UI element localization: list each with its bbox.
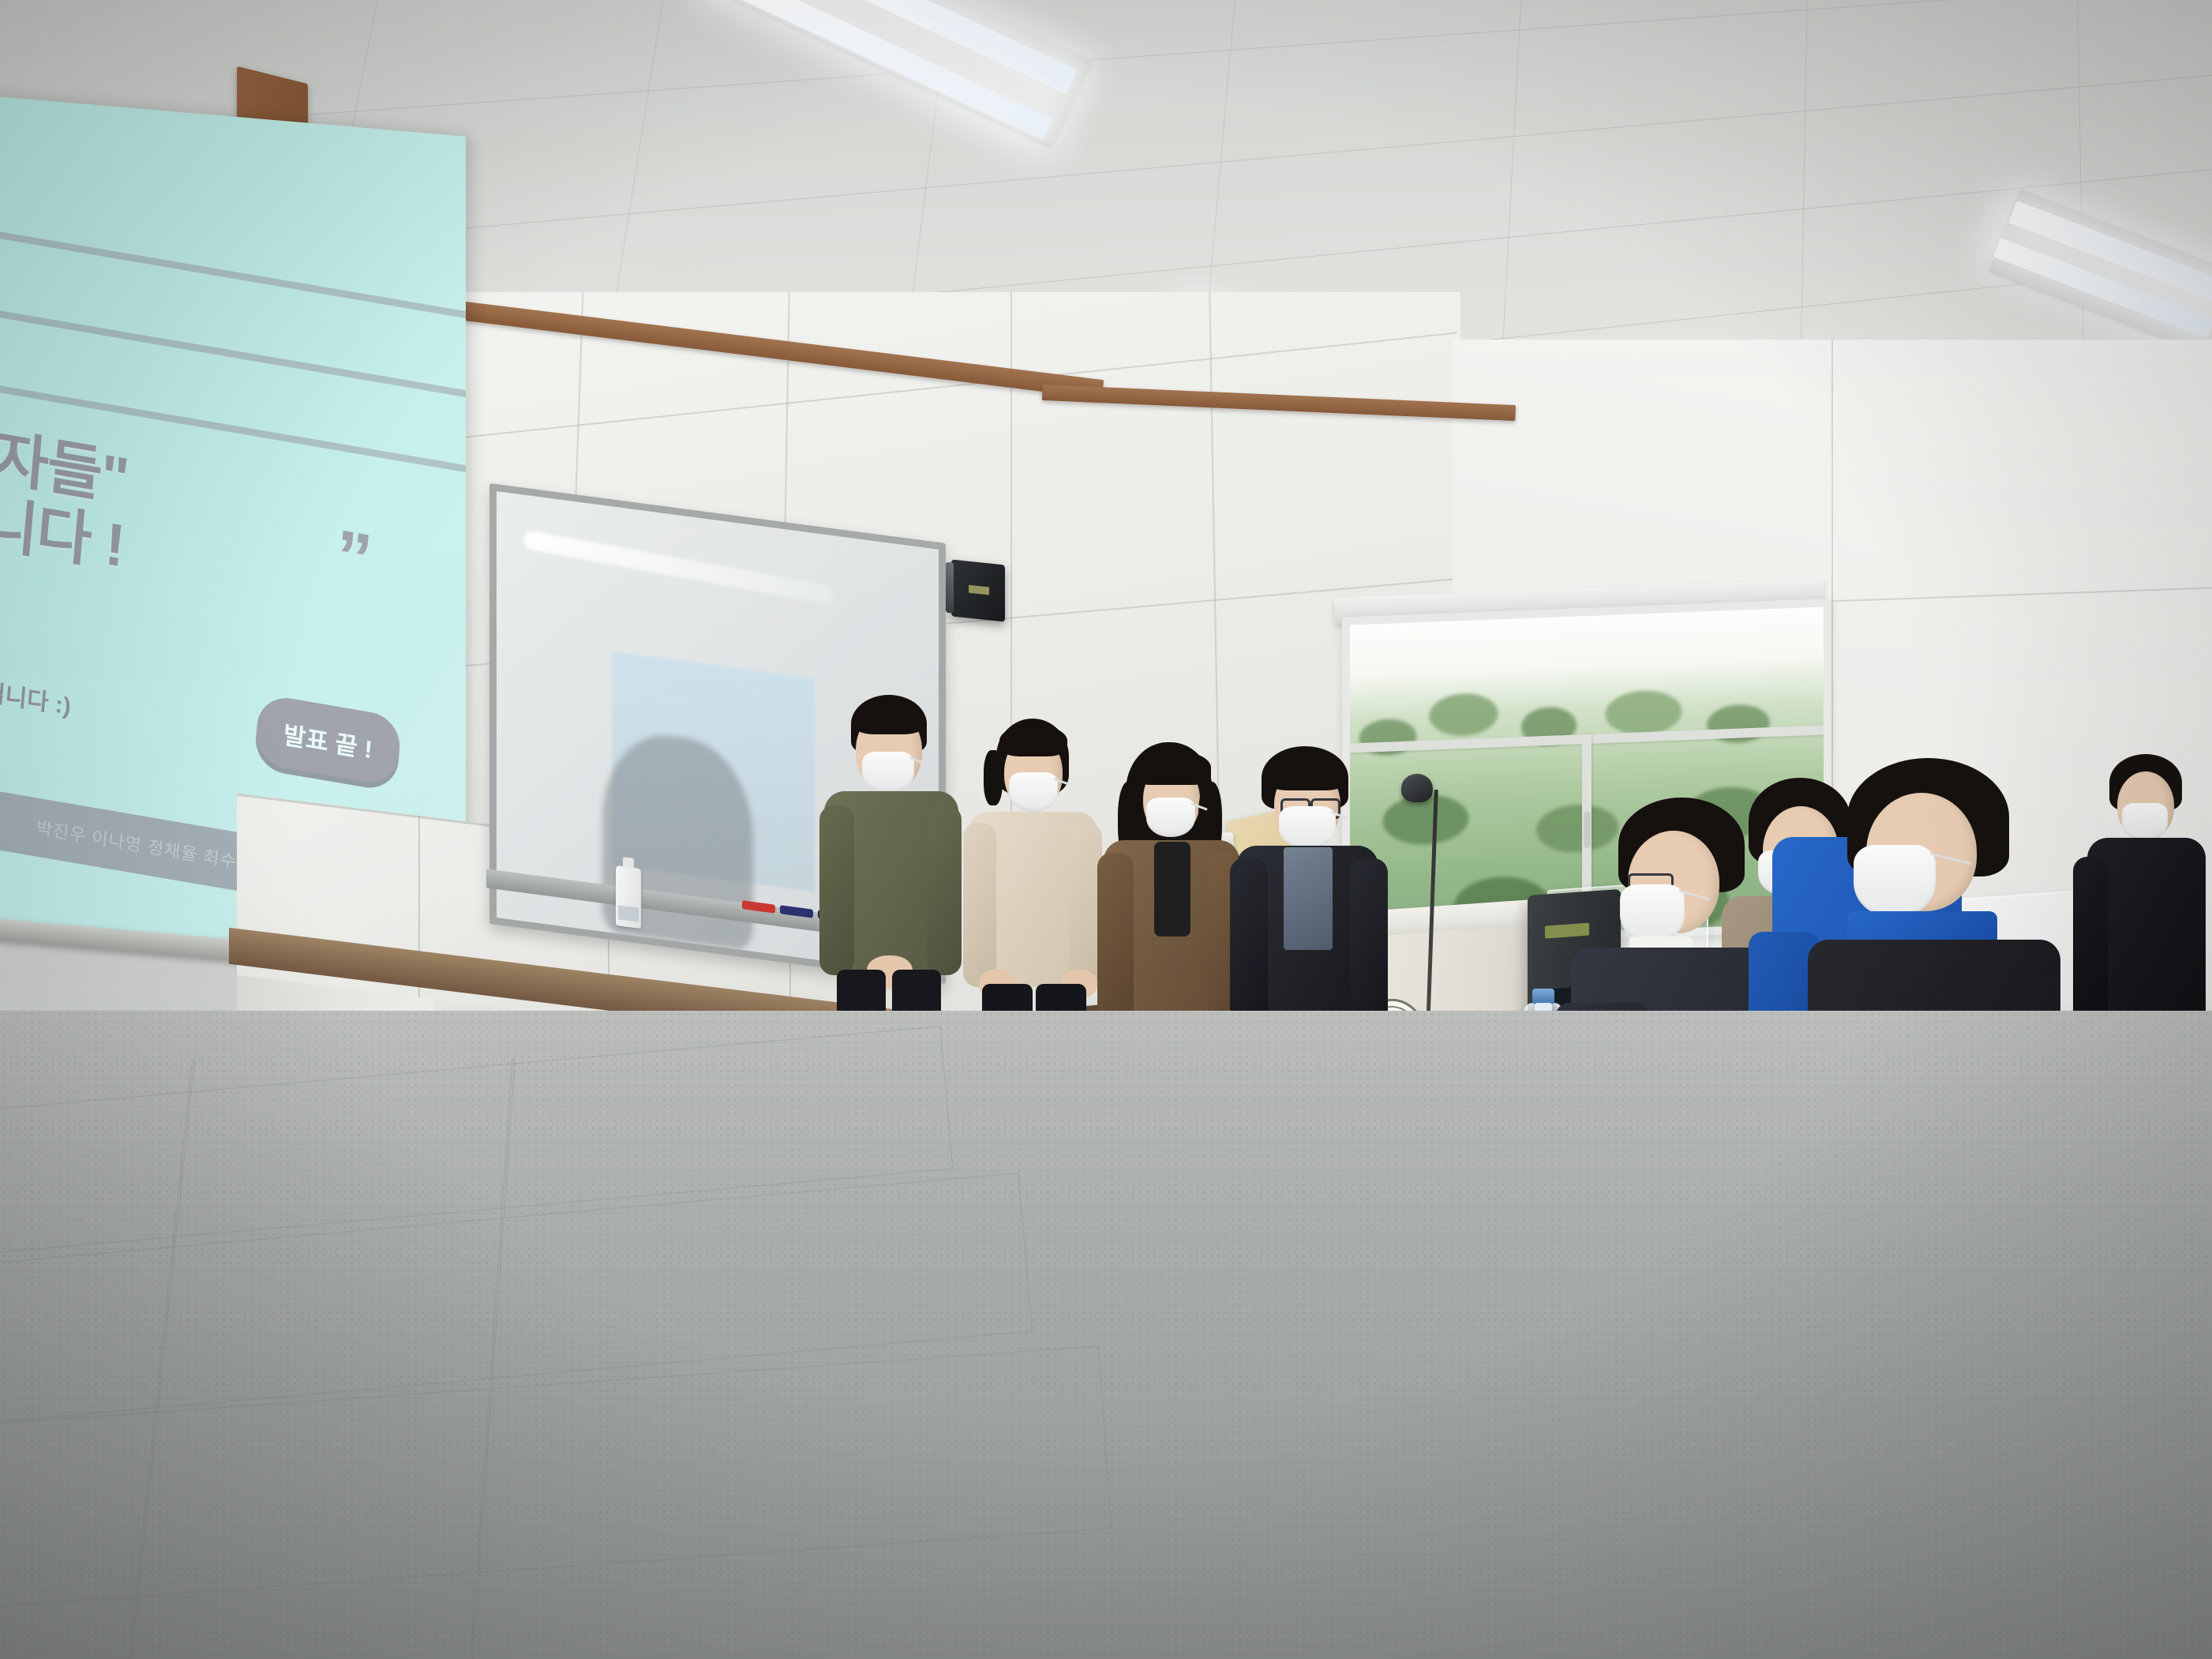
face-mask-icon <box>2122 803 2168 841</box>
classroom-presentation-photo: "비파괴자들" 발표였습니다 ! ” …제나 환영입니다 :) 발표 끝 ! 박… <box>0 0 2212 1659</box>
face-mask-icon <box>1279 806 1336 849</box>
face-mask-icon <box>1854 845 1936 918</box>
wall-speaker-icon <box>951 559 1005 621</box>
face-mask-icon <box>1146 798 1195 837</box>
window-latch[interactable] <box>1584 812 1591 848</box>
presenter-4-shirt <box>1284 847 1333 950</box>
floor <box>0 1011 2212 1659</box>
microphone-icon[interactable] <box>1401 774 1433 802</box>
face-mask-icon <box>1620 884 1685 943</box>
slide-end-button: 발표 끝 ! <box>254 693 403 787</box>
face-mask-icon <box>862 752 914 793</box>
slide-quote-mark: ” <box>332 519 375 597</box>
slide-footer-names: 박진우 이나영 정채율 최수빈 <box>36 814 255 876</box>
face-mask-icon <box>1009 772 1058 812</box>
hand-sanitizer-bottle <box>616 865 641 929</box>
